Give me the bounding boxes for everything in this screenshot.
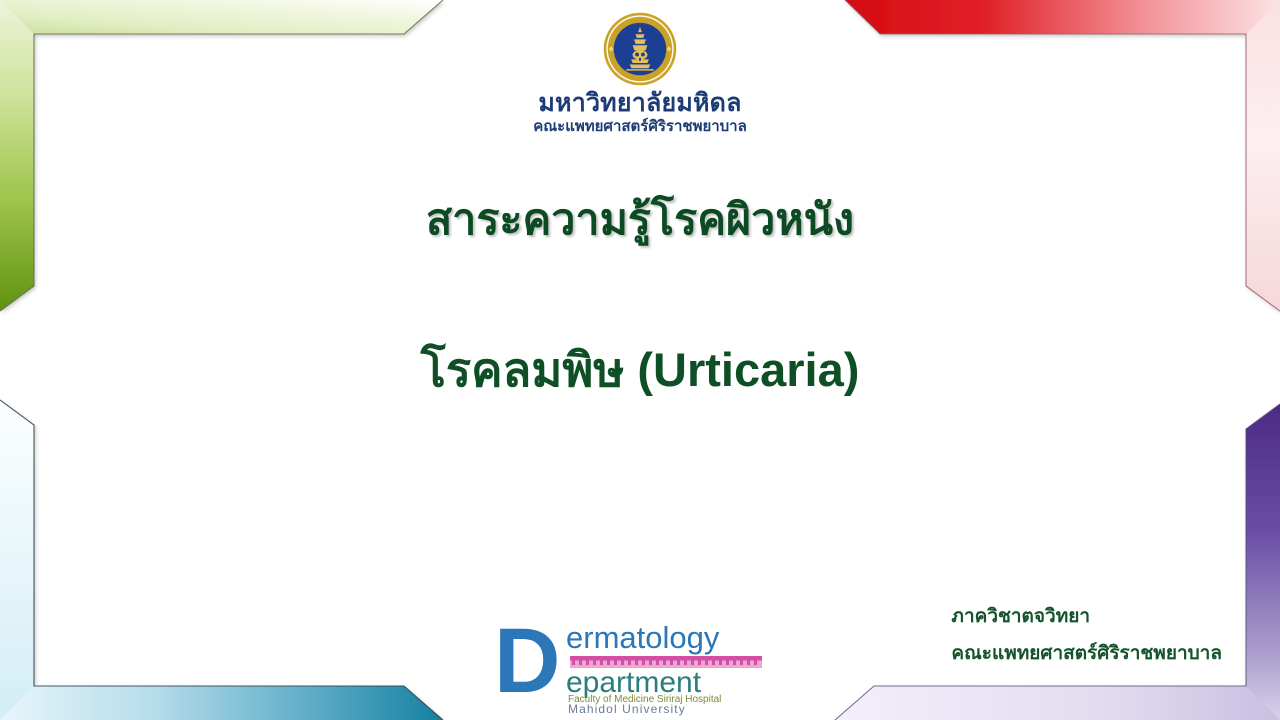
slide-title: สาระความรู้โรคผิวหนัง: [0, 196, 1280, 245]
credits-department: ภาควิชาตจวิทยา: [951, 599, 1222, 635]
credits-block: ภาควิชาตจวิทยา คณะแพทยศาสตร์ศิริราชพยาบา…: [951, 599, 1222, 672]
dermatology-department-logo: D ermatology: [488, 608, 770, 716]
university-header: ◦ ◦ ◦ ◦ ◦: [0, 12, 1280, 135]
university-faculty: คณะแพทยศาสตร์ศิริราชพยาบาล: [533, 118, 747, 135]
derm-logo-big-letter: D: [494, 610, 560, 712]
svg-text:◦ ◦ ◦ ◦ ◦: ◦ ◦ ◦ ◦ ◦: [629, 21, 651, 27]
derm-logo-word-top: ermatology: [566, 620, 720, 655]
frame-corner-bottom-right: [835, 404, 1280, 720]
slide-subtitle: โรคลมพิษ (Urticaria): [0, 343, 1280, 397]
frame-corner-bottom-left: [0, 400, 443, 720]
slide-canvas: ◦ ◦ ◦ ◦ ◦: [0, 0, 1280, 720]
derm-logo-university-line: Mahidol University: [568, 702, 686, 716]
mahidol-university-emblem-icon: ◦ ◦ ◦ ◦ ◦: [603, 12, 677, 86]
university-name: มหาวิทยาลัยมหิดล: [538, 90, 741, 117]
credits-faculty: คณะแพทยศาสตร์ศิริราชพยาบาล: [951, 636, 1222, 672]
